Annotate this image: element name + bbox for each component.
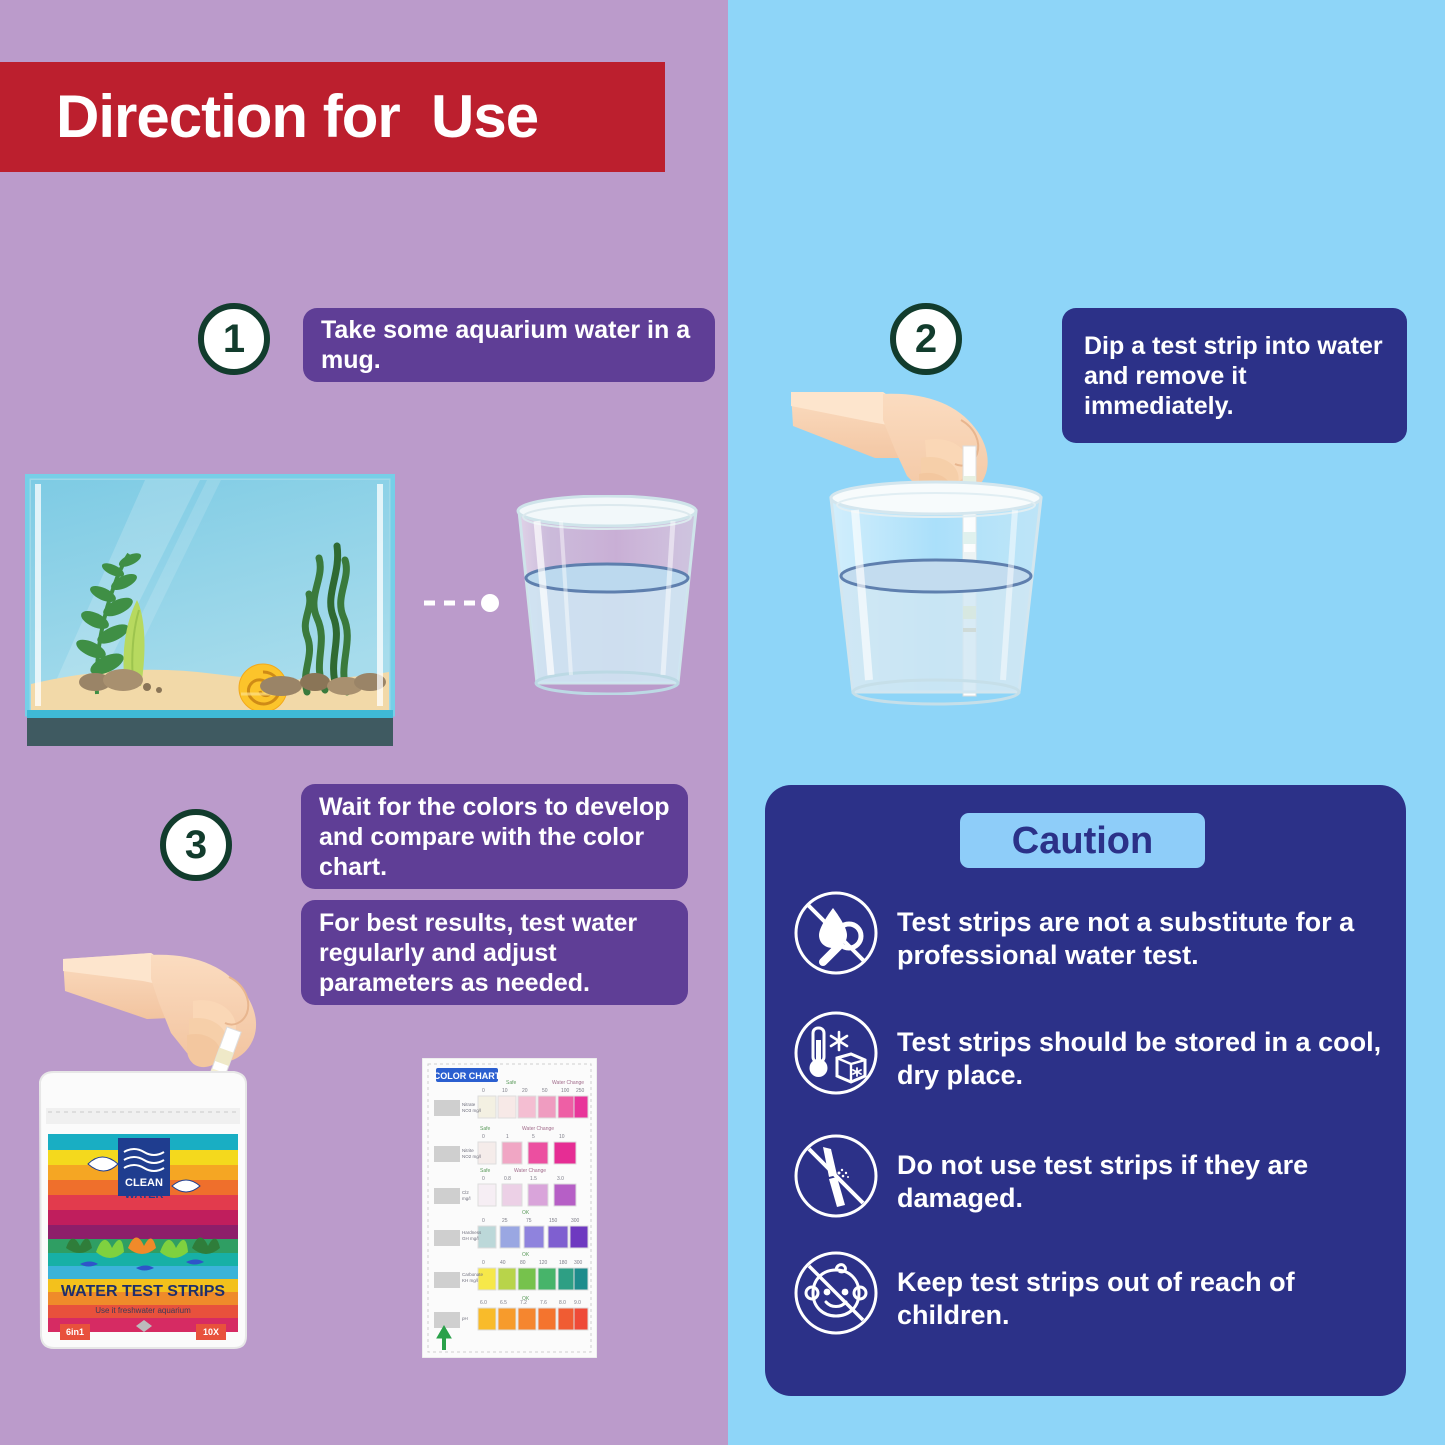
dashed-arrow-icon <box>424 594 504 612</box>
color-chart-card: COLOR CHART <box>422 1058 597 1358</box>
svg-text:1: 1 <box>506 1134 509 1140</box>
caution-panel: Caution Test strips are not a substitute… <box>765 785 1406 1396</box>
svg-text:OK: OK <box>522 1296 530 1302</box>
svg-text:7.6: 7.6 <box>540 1300 547 1306</box>
svg-text:Water Change: Water Change <box>514 1168 546 1174</box>
svg-text:0: 0 <box>482 1088 485 1094</box>
pouch-product-name: WATER TEST STRIPS <box>61 1283 225 1300</box>
caution-header-label: Caution <box>1012 822 1153 860</box>
pouch-tagline: Use it freshwater aquarium <box>95 1306 191 1315</box>
svg-text:OK: OK <box>522 1252 530 1258</box>
svg-text:150: 150 <box>549 1218 558 1224</box>
svg-text:5: 5 <box>532 1134 535 1140</box>
pouch-badge-right: 10X <box>203 1327 219 1337</box>
svg-text:40: 40 <box>500 1260 506 1266</box>
svg-text:8.0: 8.0 <box>559 1300 566 1306</box>
svg-text:1.5: 1.5 <box>530 1176 537 1182</box>
hand-dipping-strip-illustration <box>775 380 1095 710</box>
step-3-text: Wait for the colors to develop and compa… <box>319 792 670 882</box>
color-chart-header: COLOR CHART <box>434 1071 501 1081</box>
step-1-text: Take some aquarium water in a mug. <box>321 315 697 375</box>
svg-text:Safe: Safe <box>480 1168 491 1174</box>
step-number-1: 1 <box>198 303 270 375</box>
svg-text:pH: pH <box>462 1316 468 1321</box>
pouch-brand-line2: WATER <box>125 1189 164 1201</box>
svg-text:Safe: Safe <box>506 1080 517 1086</box>
caution-item: Test strips are not a substitute for a p… <box>793 890 1383 976</box>
svg-text:6.5: 6.5 <box>500 1300 507 1306</box>
svg-text:Hardness: Hardness <box>462 1230 482 1235</box>
svg-text:KH mg/l: KH mg/l <box>462 1278 478 1283</box>
svg-text:250: 250 <box>576 1088 585 1094</box>
caution-header-badge: Caution <box>960 813 1205 868</box>
svg-text:6.0: 6.0 <box>480 1300 487 1306</box>
svg-text:NO2 mg/l: NO2 mg/l <box>462 1154 481 1159</box>
step-number-2: 2 <box>890 303 962 375</box>
svg-text:50: 50 <box>542 1088 548 1094</box>
step-3-callout: Wait for the colors to develop and compa… <box>301 784 688 889</box>
caution-item-text: Do not use test strips if they are damag… <box>897 1133 1383 1215</box>
infographic-page: Direction for Use 1 Take some aquarium w… <box>0 0 1445 1445</box>
step-number-3-label: 3 <box>185 825 207 865</box>
svg-text:10: 10 <box>559 1134 565 1140</box>
pouch-brand-line1: CLEAN <box>125 1177 163 1189</box>
step-number-1-label: 1 <box>223 319 245 359</box>
svg-text:0: 0 <box>482 1176 485 1182</box>
no-water-drop-magnifier-icon <box>793 890 879 976</box>
svg-text:0: 0 <box>482 1218 485 1224</box>
svg-text:Nitrate: Nitrate <box>462 1102 476 1107</box>
thermometer-snowflake-box-icon <box>793 1010 879 1096</box>
svg-text:0: 0 <box>482 1134 485 1140</box>
pouch-badge-left: 6in1 <box>66 1327 84 1337</box>
svg-text:Water Change: Water Change <box>522 1126 554 1132</box>
step-1-callout: Take some aquarium water in a mug. <box>303 308 715 382</box>
caution-item: Keep test strips out of reach of childre… <box>793 1250 1383 1336</box>
page-title: Direction for Use <box>0 87 538 147</box>
step-2-callout: Dip a test strip into water and remove i… <box>1062 308 1407 443</box>
svg-text:Carbonate: Carbonate <box>462 1272 484 1277</box>
svg-text:OK: OK <box>522 1210 530 1216</box>
svg-text:80: 80 <box>520 1260 526 1266</box>
svg-text:Water Change: Water Change <box>552 1080 584 1086</box>
svg-text:mg/l: mg/l <box>462 1196 471 1201</box>
caution-item-text: Test strips are not a substitute for a p… <box>897 890 1383 972</box>
svg-text:180: 180 <box>559 1260 568 1266</box>
svg-text:9.0: 9.0 <box>574 1300 581 1306</box>
no-baby-icon <box>793 1250 879 1336</box>
step-number-2-label: 2 <box>915 319 937 359</box>
caution-item-text: Keep test strips out of reach of childre… <box>897 1250 1383 1332</box>
svg-text:Nitrite: Nitrite <box>462 1148 474 1153</box>
no-broken-strip-icon <box>793 1133 879 1219</box>
svg-text:100: 100 <box>561 1088 570 1094</box>
product-pouch-illustration: CLEAN WATER WATER TEST STRIPS Use it <box>36 1068 251 1353</box>
svg-text:0: 0 <box>482 1260 485 1266</box>
step-3-extra-callout: For best results, test water regularly a… <box>301 900 688 1005</box>
svg-text:300: 300 <box>574 1260 583 1266</box>
svg-text:0.8: 0.8 <box>504 1176 511 1182</box>
svg-text:10: 10 <box>502 1088 508 1094</box>
svg-text:20: 20 <box>522 1088 528 1094</box>
svg-text:120: 120 <box>539 1260 548 1266</box>
aquarium-tank-illustration <box>25 474 395 754</box>
caution-item: Test strips should be stored in a cool, … <box>793 1010 1383 1096</box>
svg-text:NO3 mg/l: NO3 mg/l <box>462 1108 481 1113</box>
step-2-text: Dip a test strip into water and remove i… <box>1084 331 1385 421</box>
svg-text:25: 25 <box>502 1218 508 1224</box>
svg-text:300: 300 <box>571 1218 580 1224</box>
water-glass-illustration <box>505 495 710 695</box>
step-number-3: 3 <box>160 809 232 881</box>
svg-text:3.0: 3.0 <box>557 1176 564 1182</box>
svg-text:Cl2: Cl2 <box>462 1190 469 1195</box>
step-3-extra-text: For best results, test water regularly a… <box>319 908 670 998</box>
title-banner: Direction for Use <box>0 62 665 172</box>
svg-text:75: 75 <box>526 1218 532 1224</box>
caution-item-text: Test strips should be stored in a cool, … <box>897 1010 1383 1092</box>
svg-text:Safe: Safe <box>480 1126 491 1132</box>
caution-item: Do not use test strips if they are damag… <box>793 1133 1383 1219</box>
svg-text:GH mg/l: GH mg/l <box>462 1236 479 1241</box>
